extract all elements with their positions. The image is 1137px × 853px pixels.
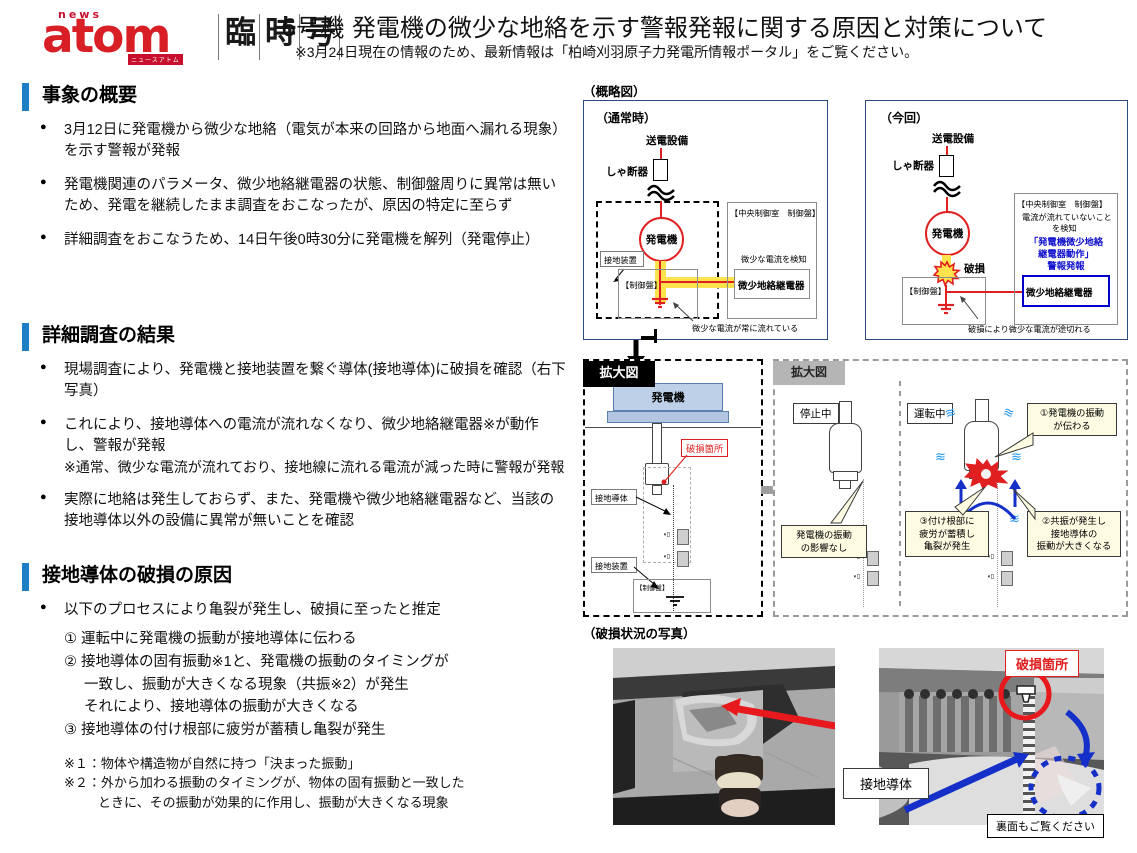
callout-2: ②共振が発生し 接地導体の 振動が大きくなる [1027,511,1121,557]
callout-2-line1: ②共振が発生し [1042,516,1106,526]
list-item: これにより、接地導体への電流が流れなくなり、微少地絡継電器※が動作し、警報が発報… [22,415,567,477]
callout-3-leader [953,485,987,517]
thistime-panel-label: （今回） [880,109,928,126]
cause-footnote-2-cont: ときに、その振動が効果的に作用し、振動が大きくなる現象 [22,793,567,813]
section-marker-bar [22,323,29,351]
back-page-note: 裏面もご覧ください [987,814,1104,838]
poster-page: news atom ニュースアトム 臨 時 号 6号機 発電機の微少な地絡を示す… [0,0,1137,853]
generator-symbol: 発電機 [925,211,970,256]
control-panel-label: 【制御盤】 [621,279,662,291]
stopped-clamp-upper [867,551,879,566]
damage-label: 破損 [964,261,985,276]
cause-footnote-2: ※２：外から加わる振動のタイミングが、物体の固有振動と一致した [22,773,567,793]
relay-label-thistime: 微少地絡継電器 [1026,285,1093,299]
section-marker-bar [22,563,29,591]
cause-step-2: ② 接地導体の固有振動※1と、発電機の振動のタイミングが [22,652,567,674]
generator-block: 発電機 [613,383,723,411]
clamp-upper [677,529,689,545]
header: news atom ニュースアトム 臨 時 号 6号機 発電機の微少な地絡を示す… [0,0,1137,72]
section-investigation-title: 詳細調査の結果 [42,322,567,350]
schematic-thistime-panel: （今回） 送電設備 しゃ断器 発電機 破損 【制御盤】 [865,100,1128,340]
normal-breaker-label: しゃ断器 [606,164,648,179]
callout-1-line1: ①発電機の振動 [1040,408,1104,418]
callout-2-leader [1011,487,1037,521]
floor-line [585,427,761,428]
callout-3: ③付け根部に 疲労が蓄積し 亀裂が発生 [905,511,989,557]
section-investigation-head: 詳細調査の結果 [22,322,567,352]
list-item-text: これにより、接地導体への電流が流れなくなり、微少地絡継電器※が動作し、警報が発報 [64,417,539,454]
list-item: 実際に地絡は発生しておらず、また、発電機や微少地絡継電器など、当該の接地導体以外… [22,490,567,532]
caption-schematic: （概略図） [583,81,646,100]
right-diagram-column: （概略図） （通常時） 送電設備 しゃ断器 発電機 接地装置 [575,78,1137,853]
rinji-char-0: 臨 [225,17,256,48]
breaker-symbol [939,155,954,177]
section-overview-bullets: 3月12日に発電機から微少な地絡（電気が本来の回路から地面へ漏れる現象）を示す警… [22,120,567,251]
stopped-bolt-lower: ◖▯ [853,573,860,580]
earth-symbol [648,297,672,311]
list-item: 詳細調査をおこなうため、14日午後0時30分に発電機を解列（発電停止） [22,230,567,251]
cause-footnote-1: ※１：物体や構造物が自然に持つ「決まった振動」 [22,754,567,774]
callout-1-leader [993,429,1035,461]
callout-2-line2: 接地導体の [1051,529,1098,539]
relay-label-normal: 微少地絡継電器 [738,278,805,292]
callout-3-line2: 疲労が蓄積し [919,529,975,539]
thistime-breaker-label: しゃ断器 [892,158,934,173]
thistime-note-leader [958,295,982,321]
section-cause-bullets: 以下のプロセスにより亀裂が発生し、破損に至ったと推定 [22,600,567,621]
callout-stopped: 発電機の振動 の影響なし [781,525,867,558]
running-clamp-upper [1001,551,1013,566]
logo-atom-text: atom [42,13,169,60]
list-item: 以下のプロセスにより亀裂が発生し、破損に至ったと推定 [22,600,567,621]
wave-symbol [932,179,964,197]
list-item: 3月12日に発電機から微少な地絡（電気が本来の回路から地面へ漏れる現象）を示す警… [22,120,567,162]
earth-symbol [934,303,958,317]
thistime-bottom-note: 破損により微少な電流が途切れる [968,323,1091,335]
thistime-transmission-label: 送電設備 [932,131,974,146]
ground-device-label: 接地装置 [604,254,637,266]
callout-1-line2: が伝わる [1053,421,1090,431]
callout-stopped-line1: 発電機の振動 [796,530,852,540]
control-panel-label-enlarged: 【制御盤】 [636,582,669,592]
callout-stopped-leader [825,479,869,527]
damage-point-photo-tag: 破損箇所 [1005,650,1079,677]
enlarged-right-tag: 拡大図 [773,361,845,385]
logo-kana-text: ニュースアトム [128,54,183,65]
detect-label-normal: 微少な電流を検知 [741,253,807,265]
logo-divider-1 [218,14,219,60]
ground-conductor-leader [635,495,673,517]
bolt-marks-lower: ◖▯ [663,553,670,560]
enlarged-left-tag: 拡大図 [583,361,655,387]
control-panel-label: 【制御盤】 [905,285,946,297]
wave-symbol [646,183,678,201]
vibration-mark-3: ≋ [935,449,946,465]
callout-3-line3: 亀裂が発生 [924,541,971,551]
section-cause-head: 接地導体の破損の原因 [22,562,567,592]
atom-logo: news atom ニュースアトム 臨 時 号 [42,8,278,64]
callout-1: ①発電機の振動 が伝わる [1027,403,1117,436]
stopped-body [829,423,862,473]
normal-panel-label: （通常時） [596,109,656,126]
section-investigation-bullets: 現場調査により、発電機と接地装置を繋ぐ導体(接地導体)に破損を確認（右下写真） … [22,360,567,532]
list-item: 現場調査により、発電機と接地装置を繋ぐ導体(接地導体)に破損を確認（右下写真） [22,360,567,402]
stopped-clamp-lower [867,571,879,586]
left-content-column: 事象の概要 3月12日に発電機から微少な地絡（電気が本来の回路から地面へ漏れる現… [0,72,575,853]
section-overview-head: 事象の概要 [22,82,567,112]
ground-conductor-label: 接地導体 [595,492,628,504]
page-subtitle: ※3月24日現在の情報のため、最新情報は「柏崎刈羽原子力発電所情報ポータル」をご… [295,42,918,62]
bolt-marks-upper: ◖▯ [663,531,670,538]
caption-photo: （破損状況の写真） [583,623,696,642]
page-title: 6号機 発電機の微少な地絡を示す警報発報に関する原因と対策について [281,8,1047,43]
list-item: 発電機関連のパラメータ、微少地絡継電器の状態、制御盤周りに異常は無いため、発電を… [22,175,567,217]
breaker-symbol [653,159,668,181]
enlarged-left-panel: 発電機 破損箇所 接地導体 ◖▯ ◖▯ 接地装 [583,359,763,617]
section-marker-bar [22,83,29,111]
generator-base [607,411,729,423]
generator-symbol: 発電機 [639,217,684,262]
photo-damage-closeup-render [613,648,835,825]
normal-transmission-label: 送電設備 [646,133,688,148]
ccr-title-normal: 【中央制御室 制御盤】 [730,207,820,219]
detect-label-thistime-2: を検知 [1052,222,1077,234]
callout-stopped-line2: の影響なし [801,543,848,553]
earth-symbol-enlarged [663,595,687,609]
photo-damage-closeup [613,648,835,825]
list-item-note: ※通常、微少な電流が流れており、接地線に流れる電流が減った時に警報が発報 [64,457,567,477]
section-investigation: 詳細調査の結果 現場調査により、発電機と接地装置を繋ぐ導体(接地導体)に破損を確… [22,322,567,545]
cause-step-2-cont-a: 一致し、振動が大きくなる現象（共振※2）が発生 [22,675,567,697]
alarm-text-3: 警報発報 [1014,258,1118,272]
stopped-label-tag: 停止中 [793,403,839,424]
cause-step-1: ① 運転中に発電機の振動が接地導体に伝わる [22,629,567,651]
section-cause-title: 接地導体の破損の原因 [42,562,567,590]
vibration-mark-2: ≋ [1001,404,1017,423]
running-bolt-lower: ◖▯ [987,573,994,580]
ground-conductor-photo-tag: 接地導体 [843,768,929,799]
cause-step-2-cont-b: それにより、接地導体の振動が大きくなる [22,697,567,719]
normal-bottom-note: 微少な電流が常に流れている [692,322,798,334]
callout-2-line3: 振動が大きくなる [1037,541,1111,551]
running-clamp-lower [1001,571,1013,586]
callout-3-line1: ③付け根部に [920,516,975,526]
section-overview-title: 事象の概要 [42,82,567,110]
ground-device-label-2: 接地装置 [595,560,628,572]
logo-divider-2 [259,14,260,60]
clamp-lower [677,551,689,567]
panel-divider [899,381,901,609]
damage-arrow-left-photo [693,702,835,732]
section-overview: 事象の概要 3月12日に発電機から微少な地絡（電気が本来の回路から地面へ漏れる現… [22,82,567,264]
ccr-title-thistime: 【中央制御室 制御盤】 [1017,198,1107,210]
normal-note-leader [671,301,697,323]
schematic-normal-panel: （通常時） 送電設備 しゃ断器 発電機 接地装置 【制御盤】 [583,100,828,340]
section-cause: 接地導体の破損の原因 以下のプロセスにより亀裂が発生し、破損に至ったと推定 ① … [22,562,567,812]
enlarged-right-panel: 停止中 ◖▯ ◖▯ 発電機の振動 の影響なし 運転中 [773,359,1128,617]
cause-step-3: ③ 接地導体の付け根部に疲労が蓄積し亀裂が発生 [22,720,567,742]
